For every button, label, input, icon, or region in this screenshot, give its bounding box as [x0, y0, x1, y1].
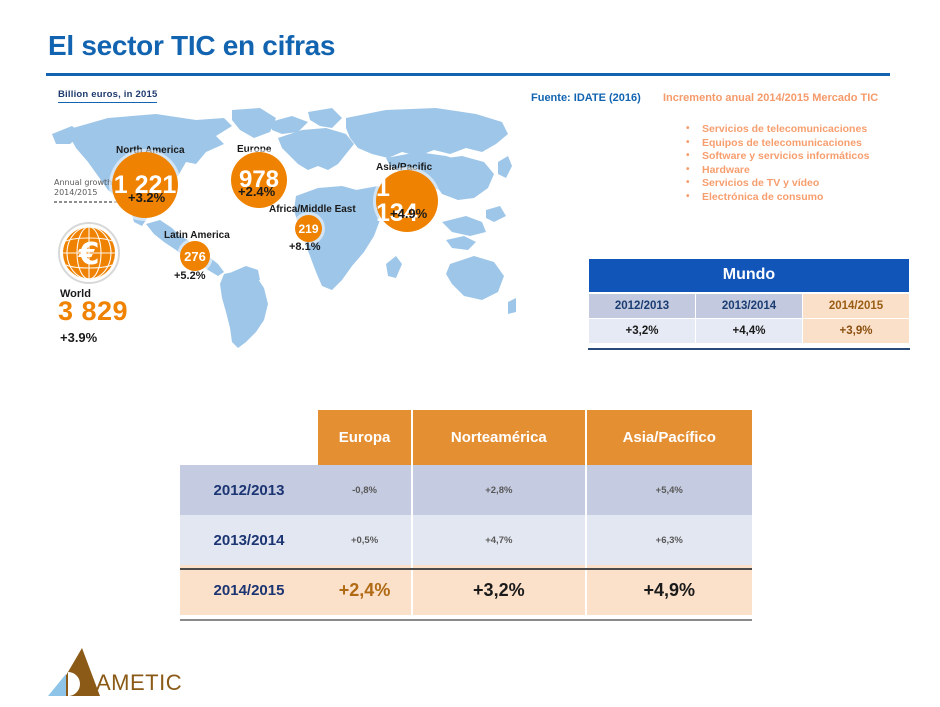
- mundo-col-header: 2014/2015: [803, 293, 910, 319]
- mundo-cell: +3,2%: [589, 319, 696, 344]
- table-row: 2013/2014 +0,5% +4,7% +6,3%: [180, 515, 752, 565]
- bubble-north-america: 1 221: [112, 152, 178, 218]
- list-item: Software y servicios informáticos: [680, 150, 869, 164]
- tic-market-segments-list: Servicios de telecomunicaciones Equipos …: [680, 123, 869, 204]
- mundo-cell: +4,4%: [696, 319, 803, 344]
- bubble-growth-africa-middle-east: +8.1%: [289, 241, 321, 253]
- table-cell: +4,9%: [587, 565, 752, 615]
- table-rule-top: [180, 568, 752, 570]
- bubble-value-latin-america: 276: [184, 250, 206, 263]
- bubble-growth-europe: +2.4%: [238, 184, 275, 199]
- mundo-col-header: 2012/2013: [589, 293, 696, 319]
- row-header: 2013/2014: [180, 515, 318, 565]
- column-header-norteamerica: Norteamérica: [413, 410, 586, 465]
- mundo-table-title: Mundo: [589, 259, 910, 294]
- mundo-cell: +3,9%: [803, 319, 910, 344]
- units-label: Billion euros, in 2015: [58, 89, 157, 103]
- list-item: Hardware: [680, 164, 869, 178]
- mundo-table: Mundo 2012/2013 2013/2014 2014/2015 +3,2…: [588, 258, 910, 344]
- table-rule-bottom: [180, 619, 752, 621]
- column-header-europa: Europa: [318, 410, 413, 465]
- table-cell: +2,4%: [318, 565, 413, 615]
- title-divider: [46, 73, 890, 76]
- svg-text:€: €: [78, 237, 100, 272]
- ametic-logo-text: AMETIC: [96, 670, 182, 696]
- bubble-africa-middle-east: 219: [295, 215, 322, 242]
- growth-by-region-table: Europa Norteamérica Asia/Pacífico 2012/2…: [180, 410, 752, 615]
- table-row: Mundo: [589, 259, 910, 294]
- bubble-growth-north-america: +3.2%: [128, 190, 165, 205]
- list-item: Servicios de TV y vídeo: [680, 177, 869, 191]
- table-cell: +5,4%: [587, 465, 752, 515]
- row-header: 2012/2013: [180, 465, 318, 515]
- table-row: +3,2% +4,4% +3,9%: [589, 319, 910, 344]
- world-value: 3 829: [58, 298, 128, 325]
- euro-globe-icon: €: [58, 222, 120, 284]
- world-map-panel: Billion euros, in 2015: [46, 82, 516, 382]
- table-row: 2014/2015 +2,4% +3,2% +4,9%: [180, 565, 752, 615]
- list-item: Equipos de telecomunicaciones: [680, 137, 869, 151]
- table-cell: +0,5%: [318, 515, 413, 565]
- table-corner-cell: [180, 410, 318, 465]
- source-label: Fuente: IDATE (2016): [531, 92, 641, 104]
- increment-label: Incremento anual 2014/2015 Mercado TIC: [663, 92, 878, 104]
- table-cell: +4,7%: [413, 515, 586, 565]
- list-item: Electrónica de consumo: [680, 191, 869, 205]
- bubble-label-africa-middle-east: Africa/Middle East: [269, 204, 356, 215]
- slide-root: El sector TIC en cifras Billion euros, i…: [0, 0, 940, 707]
- bubble-growth-asia-pacific: +4.9%: [390, 206, 427, 221]
- table-cell: +2,8%: [413, 465, 586, 515]
- column-header-asia-pacifico: Asia/Pacífico: [587, 410, 752, 465]
- table-row: 2012/2013 -0,8% +2,8% +5,4%: [180, 465, 752, 515]
- bubble-label-latin-america: Latin America: [164, 230, 230, 241]
- bubble-value-africa-middle-east: 219: [298, 223, 318, 235]
- table-cell: +6,3%: [587, 515, 752, 565]
- table-cell: +3,2%: [413, 565, 586, 615]
- bubble-europe: 978: [231, 152, 287, 208]
- table-cell: -0,8%: [318, 465, 413, 515]
- table-row: 2012/2013 2013/2014 2014/2015: [589, 293, 910, 319]
- mundo-col-header: 2013/2014: [696, 293, 803, 319]
- bubble-asia-pacific: 1 134: [376, 170, 438, 232]
- bubble-latin-america: 276: [180, 241, 210, 271]
- table-header-row: Europa Norteamérica Asia/Pacífico: [180, 410, 752, 465]
- list-item: Servicios de telecomunicaciones: [680, 123, 869, 137]
- page-title: El sector TIC en cifras: [48, 30, 335, 62]
- mundo-table-underline: [588, 348, 910, 350]
- bubble-growth-latin-america: +5.2%: [174, 270, 206, 282]
- row-header: 2014/2015: [180, 565, 318, 615]
- world-growth: +3.9%: [60, 330, 97, 345]
